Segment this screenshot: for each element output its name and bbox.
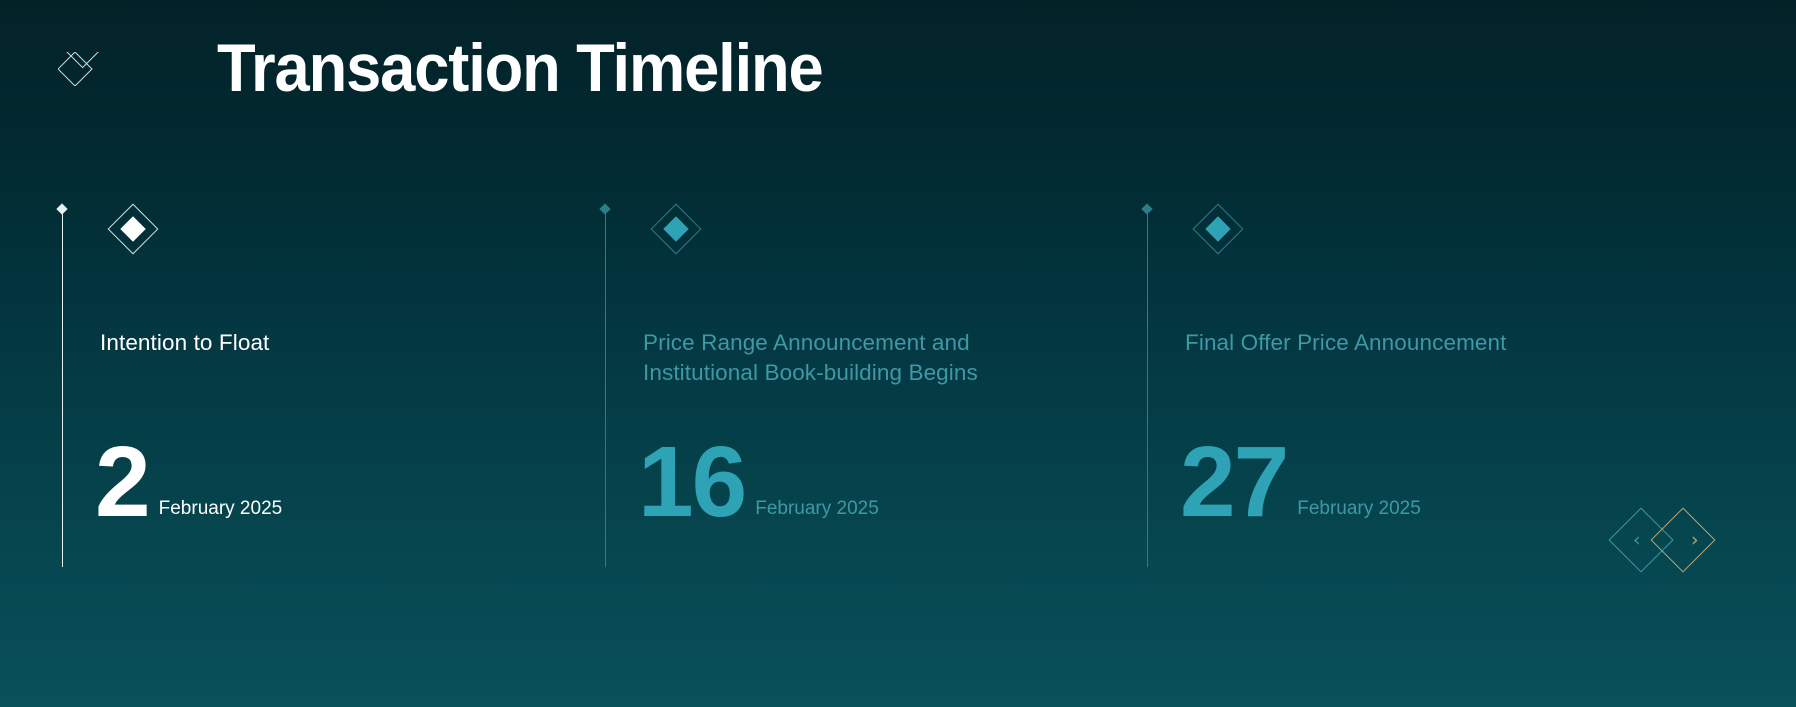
transaction-timeline: Intention to Float 2 February 2025 Price… — [0, 0, 1796, 707]
milestone-month: February 2025 — [745, 499, 879, 524]
chevron-right-icon[interactable]: › — [1691, 529, 1699, 551]
milestone-month: February 2025 — [1287, 499, 1421, 524]
milestone-marker-diamond-icon — [650, 203, 702, 255]
milestone-axis — [605, 205, 606, 567]
axis-stem — [1147, 213, 1148, 567]
milestone-day: 2 — [95, 440, 149, 524]
milestone-axis — [1147, 205, 1148, 567]
timeline-milestone[interactable]: Price Range Announcement and Institution… — [605, 200, 1125, 600]
milestone-marker-diamond-icon — [107, 203, 159, 255]
axis-stem — [605, 213, 606, 567]
milestone-label: Price Range Announcement and Institution… — [643, 328, 1083, 388]
milestone-date: 2 February 2025 — [95, 440, 282, 524]
milestone-date: 27 February 2025 — [1180, 440, 1421, 524]
carousel-nav: ‹ › — [1617, 505, 1727, 575]
milestone-axis — [62, 205, 63, 567]
timeline-milestone[interactable]: Intention to Float 2 February 2025 — [62, 200, 582, 600]
milestone-day: 27 — [1180, 440, 1287, 524]
milestone-marker-diamond-icon — [1192, 203, 1244, 255]
milestone-label: Final Offer Price Announcement — [1185, 328, 1625, 358]
milestone-date: 16 February 2025 — [638, 440, 879, 524]
milestone-label: Intention to Float — [100, 328, 540, 358]
chevron-left-icon[interactable]: ‹ — [1633, 529, 1641, 551]
axis-stem — [62, 213, 63, 567]
timeline-milestone[interactable]: Final Offer Price Announcement 27 Februa… — [1147, 200, 1667, 600]
milestone-day: 16 — [638, 440, 745, 524]
next-button[interactable] — [1650, 507, 1715, 572]
milestone-month: February 2025 — [149, 499, 283, 524]
